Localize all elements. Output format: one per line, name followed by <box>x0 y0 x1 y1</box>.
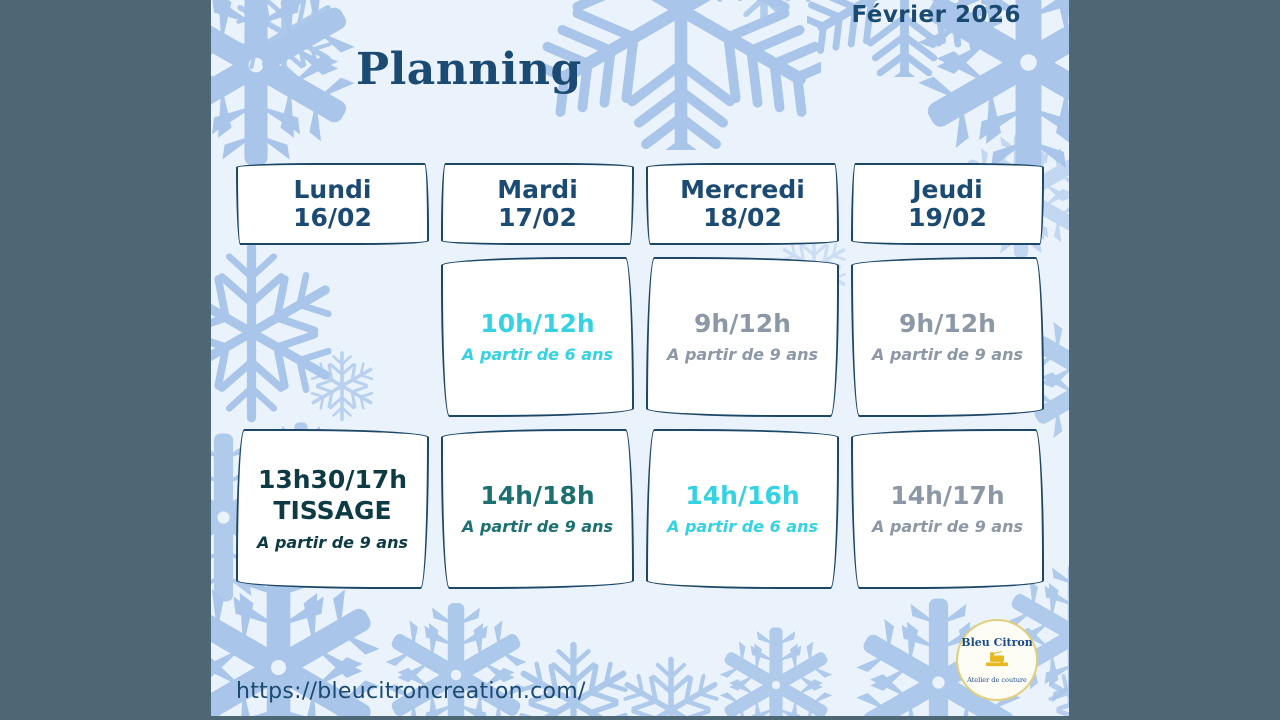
session-age-requirement: A partir de 6 ans <box>667 517 818 536</box>
website-url[interactable]: https://bleucitroncreation.com/ <box>236 679 586 704</box>
session-card[interactable]: 9h/12hA partir de 9 ans <box>646 257 839 417</box>
session-age-requirement: A partir de 9 ans <box>257 533 408 552</box>
session-card[interactable]: 14h/18hA partir de 9 ans <box>441 429 634 589</box>
day-header-card[interactable]: Lundi16/02 <box>236 163 429 245</box>
session-age-requirement: A partir de 9 ans <box>462 517 613 536</box>
planning-grid: Lundi16/02Mardi17/02Mercredi18/02Jeudi19… <box>236 163 1046 589</box>
empty-slot-cell <box>236 257 429 417</box>
day-date: 18/02 <box>703 205 782 231</box>
day-date: 17/02 <box>498 205 577 231</box>
page-title: Planning <box>356 44 582 95</box>
brand-logo: Bleu Citron Atelier de couture <box>956 619 1038 701</box>
session-card[interactable]: 14h/16hA partir de 6 ans <box>646 429 839 589</box>
logo-brand-name: Bleu Citron <box>961 636 1032 649</box>
session-age-requirement: A partir de 6 ans <box>462 345 613 364</box>
day-name: Jeudi <box>912 177 983 203</box>
day-date: 16/02 <box>293 205 372 231</box>
session-card[interactable]: 10h/12hA partir de 6 ans <box>441 257 634 417</box>
day-name: Mercredi <box>680 177 805 203</box>
session-age-requirement: A partir de 9 ans <box>667 345 818 364</box>
month-label: Février 2026 <box>851 2 1021 28</box>
session-time: 14h/16h <box>685 482 799 511</box>
poster-content: Février 2026 Planning Lundi16/02Mardi17/… <box>211 0 1069 716</box>
day-header-card[interactable]: Mardi17/02 <box>441 163 634 245</box>
day-header-card[interactable]: Jeudi19/02 <box>851 163 1044 245</box>
session-card[interactable]: 13h30/17hTISSAGEA partir de 9 ans <box>236 429 429 589</box>
logo-tagline: Atelier de couture <box>967 676 1027 684</box>
session-age-requirement: A partir de 9 ans <box>872 517 1023 536</box>
session-time: 14h/18h <box>480 482 594 511</box>
session-time: 14h/17h <box>890 482 1004 511</box>
day-name: Lundi <box>294 177 372 203</box>
day-name: Mardi <box>497 177 578 203</box>
session-card[interactable]: 14h/17hA partir de 9 ans <box>851 429 1044 589</box>
session-time: 9h/12h <box>899 310 996 339</box>
sewing-machine-icon <box>984 651 1010 674</box>
session-subtitle: TISSAGE <box>273 497 391 526</box>
planning-poster: Février 2026 Planning Lundi16/02Mardi17/… <box>211 0 1069 716</box>
session-card[interactable]: 9h/12hA partir de 9 ans <box>851 257 1044 417</box>
day-header-card[interactable]: Mercredi18/02 <box>646 163 839 245</box>
day-date: 19/02 <box>908 205 987 231</box>
session-age-requirement: A partir de 9 ans <box>872 345 1023 364</box>
session-time: 9h/12h <box>694 310 791 339</box>
session-time: 13h30/17h <box>258 466 407 495</box>
session-time: 10h/12h <box>480 310 594 339</box>
